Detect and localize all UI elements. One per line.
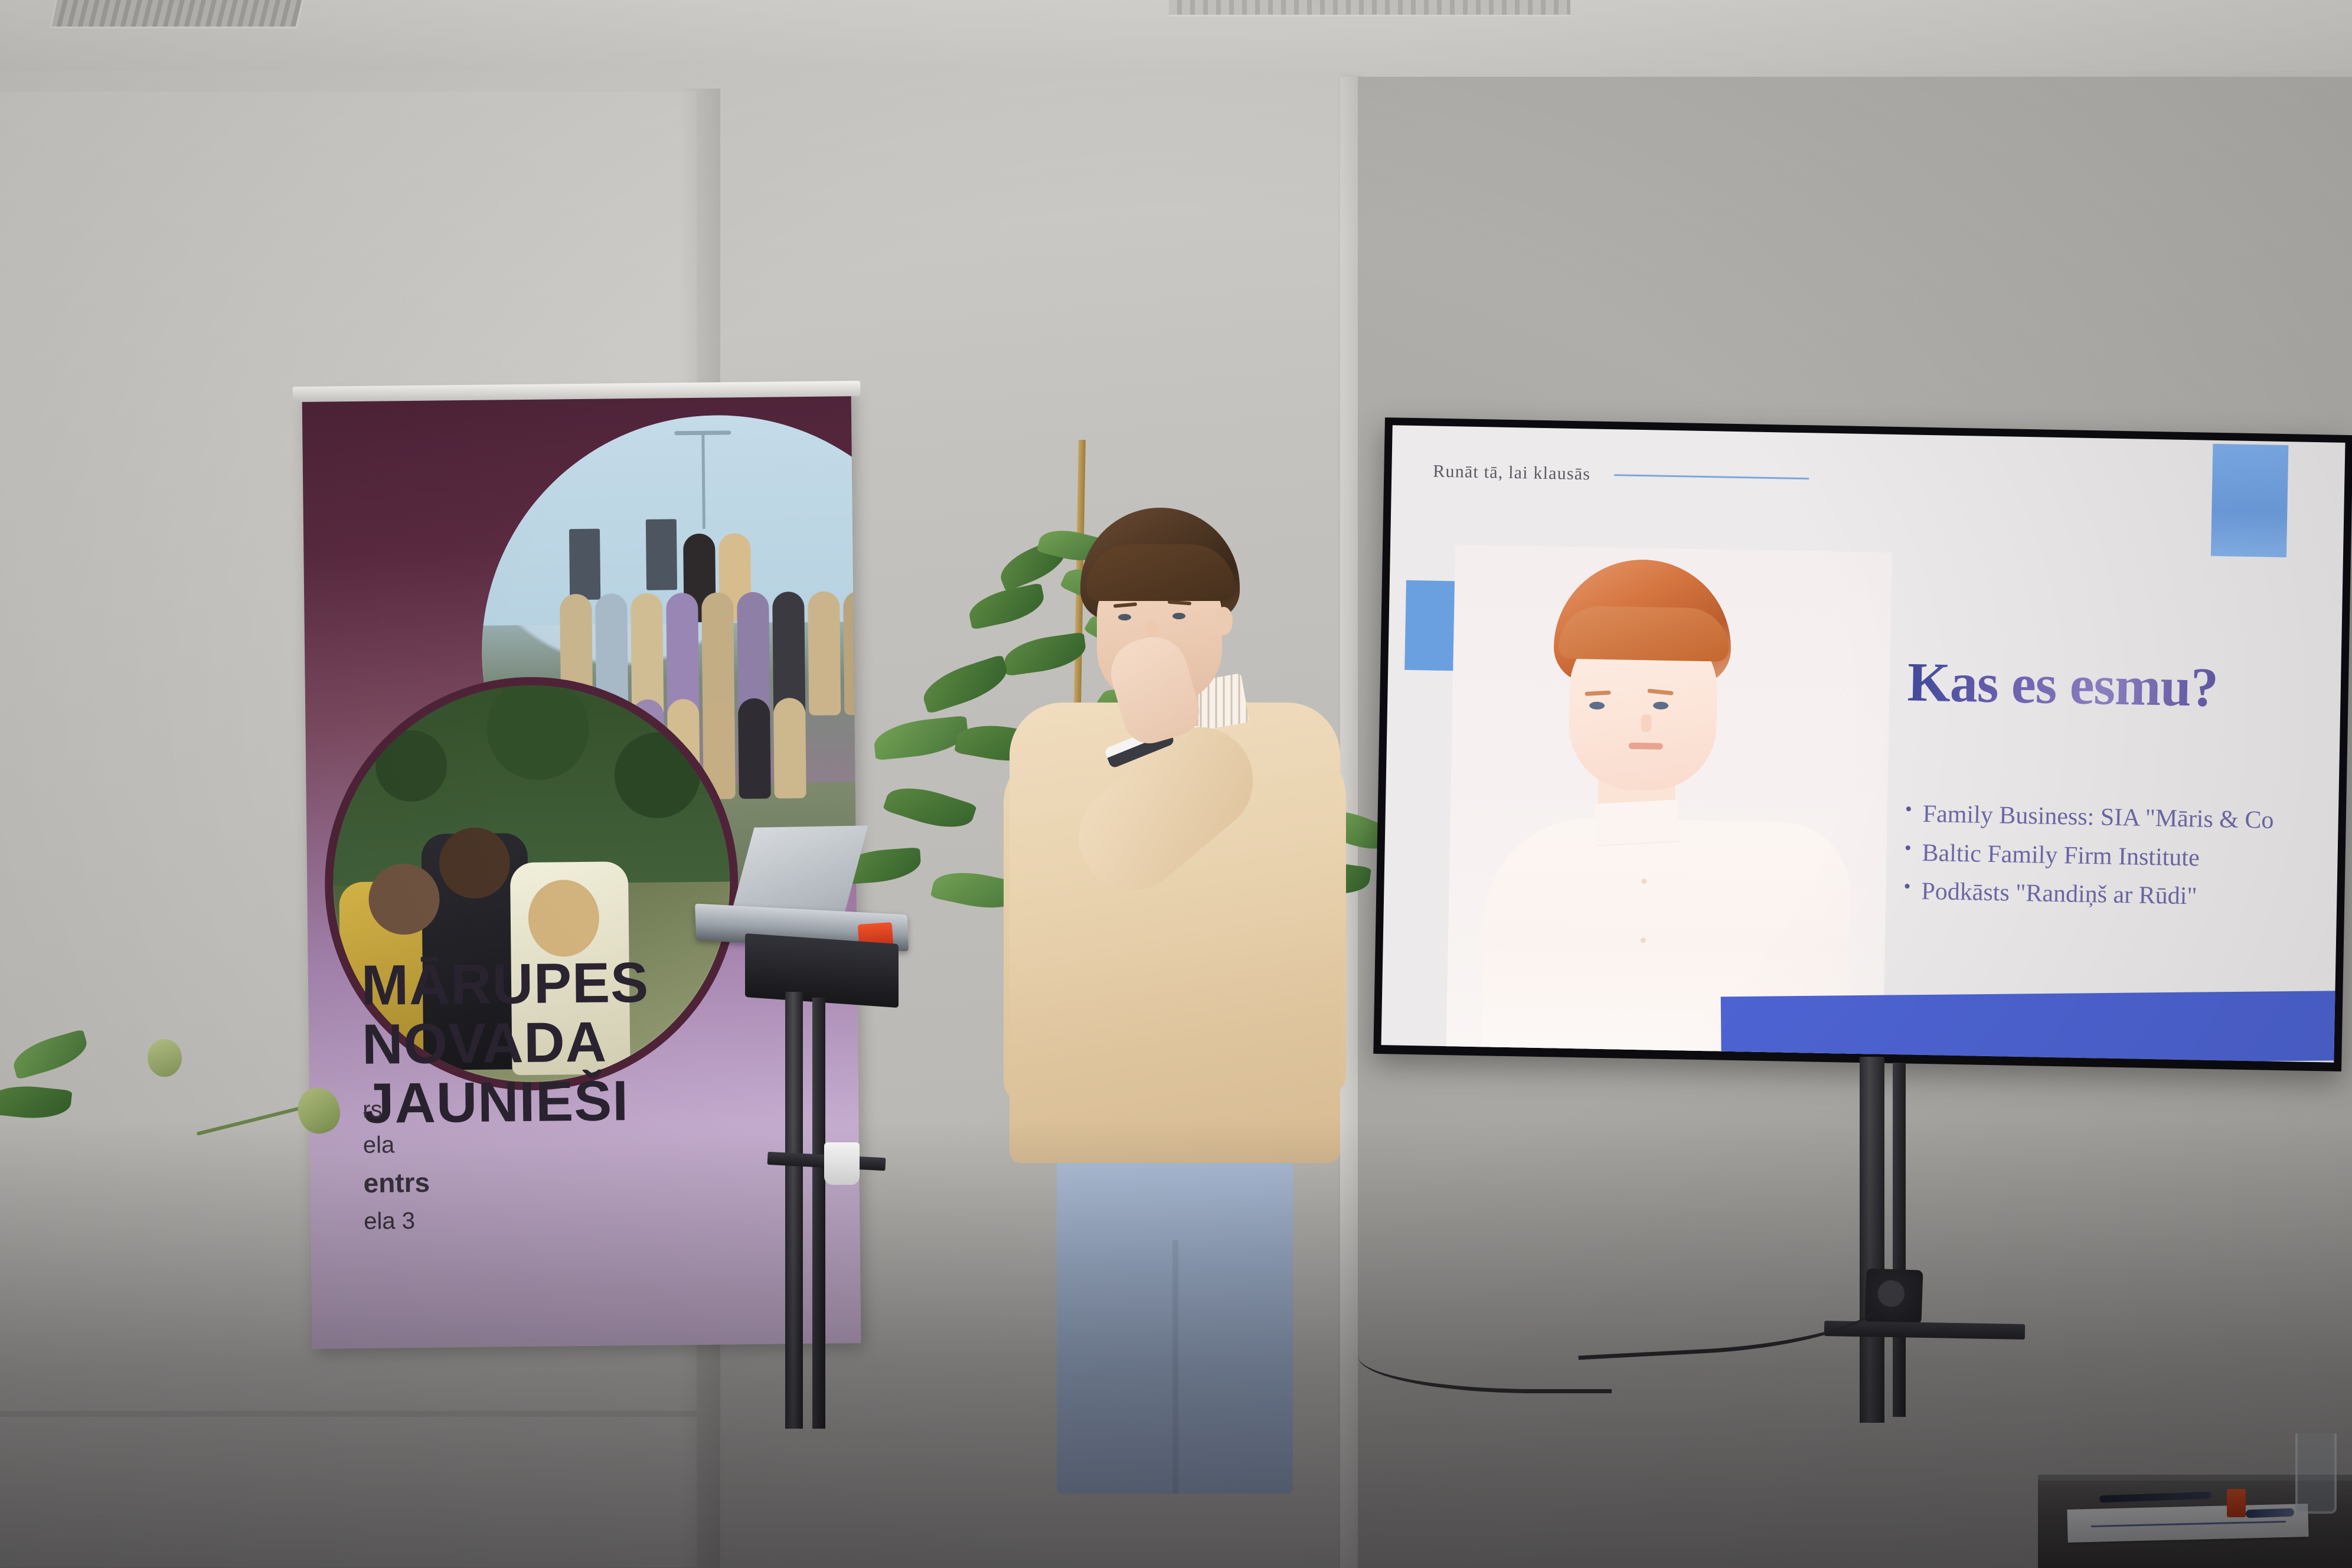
- slide-title: Kas es esmu?: [1907, 654, 2286, 717]
- photo-head: [368, 864, 440, 935]
- portrait-button: [1642, 878, 1647, 884]
- portrait-eye: [1653, 701, 1668, 709]
- portrait-button: [1641, 937, 1646, 943]
- banner-title-line1: MĀRUPES NOVADA: [361, 951, 649, 1076]
- laptop-stand-plate: [745, 933, 899, 1008]
- slide-header-rule: [1614, 474, 1809, 479]
- photo-person: [772, 592, 805, 716]
- portrait-mouth: [1629, 743, 1663, 750]
- slide-portrait-photo: [1446, 544, 1892, 1062]
- slide-accent-top-right: [2211, 444, 2288, 557]
- laptop-stand-column: [785, 992, 803, 1429]
- presentation-slide: Runāt tā, lai klausās Kas e: [1381, 425, 2346, 1062]
- drinking-glass-icon: [2295, 1433, 2337, 1514]
- laptop-stand-column-secondary: [812, 998, 825, 1429]
- marker-icon: [2246, 1508, 2294, 1518]
- presenter-eye: [1172, 613, 1185, 619]
- photo-person: [773, 698, 806, 799]
- portrait-eye: [1589, 701, 1605, 709]
- slide-bullet-item: Podkāsts "Randiņš ar Rūdi": [1902, 872, 2328, 919]
- photo-person: [737, 592, 770, 717]
- photo-trees: [331, 683, 730, 886]
- slide-accent-bottom-band: [1721, 991, 2346, 1063]
- orange-box-icon: [2227, 1489, 2246, 1517]
- banner-sub-line3: entrs: [363, 1158, 824, 1204]
- banner-sub-line2: ela: [363, 1123, 824, 1163]
- banner-sub-line1: rs: [362, 1087, 824, 1128]
- tv-stand-post: [1860, 1057, 1884, 1423]
- floor-line: [0, 1411, 697, 1417]
- presenter-eye: [1118, 614, 1131, 620]
- presenter-jeans: [1057, 1128, 1293, 1494]
- slide-header: Runāt tā, lai klausās: [1433, 462, 1809, 489]
- tv-display[interactable]: Runāt tā, lai klausās Kas e: [1373, 417, 2352, 1072]
- presenter-ear: [1215, 607, 1233, 635]
- banner-sub-line4: ela 3: [364, 1199, 825, 1239]
- presenter-fringe: [1086, 544, 1235, 601]
- portrait-nose: [1641, 714, 1652, 732]
- photo-scene: MĀRUPES NOVADA JAUNIEŠI rs ela entrs ela…: [0, 0, 2352, 1568]
- tv-stand-post-secondary: [1893, 1063, 1906, 1417]
- ceiling-vent-icon: [50, 0, 305, 28]
- banner-subtext: rs ela entrs ela 3: [362, 1087, 825, 1239]
- portrait-fringe: [1559, 606, 1730, 662]
- cup-icon: [824, 1142, 860, 1185]
- slide-bullet-list: Family Business: SIA "Māris & Co Baltic …: [1902, 795, 2329, 919]
- photo-head: [439, 827, 510, 899]
- ceiling-vent-secondary-icon: [1169, 0, 1570, 17]
- flower-bud-icon: [148, 1039, 182, 1077]
- photo-person: [738, 698, 771, 799]
- photo-person: [808, 591, 841, 716]
- portrait-collar: [1595, 799, 1679, 845]
- presenter-figure: [998, 508, 1364, 1488]
- photo-head: [528, 880, 599, 957]
- slide-kicker: Runāt tā, lai klausās: [1433, 462, 1590, 485]
